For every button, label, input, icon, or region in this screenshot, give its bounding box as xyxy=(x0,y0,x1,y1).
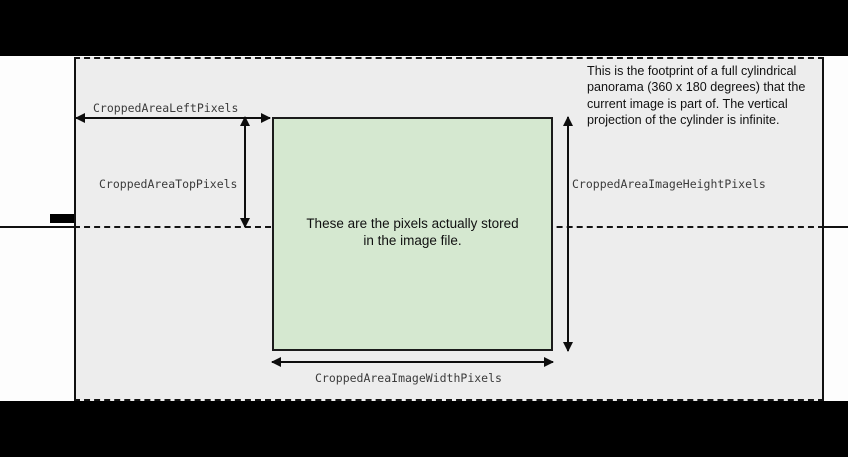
horizon-marker-block xyxy=(50,214,74,223)
panorama-footprint-bottom-edge xyxy=(74,399,824,401)
panorama-footprint-left-edge xyxy=(74,57,76,401)
cropped-area-caption: These are the pixels actually stored in … xyxy=(274,215,551,249)
label-cropped-area-image-height-pixels: CroppedAreaImageHeightPixels xyxy=(572,177,766,191)
label-cropped-area-left-pixels: CroppedAreaLeftPixels xyxy=(93,101,238,115)
horizon-line-left-segment xyxy=(0,226,76,228)
panorama-footprint-top-edge xyxy=(74,57,824,59)
arrow-cropped-area-image-height-pixels xyxy=(567,117,569,351)
horizon-line-right-segment xyxy=(822,226,848,228)
arrow-cropped-area-image-width-pixels xyxy=(272,361,553,363)
diagram-canvas: These are the pixels actually stored in … xyxy=(0,0,848,457)
label-cropped-area-image-width-pixels: CroppedAreaImageWidthPixels xyxy=(315,371,502,385)
panorama-footprint-note: This is the footprint of a full cylindri… xyxy=(587,63,827,129)
label-cropped-area-top-pixels: CroppedAreaTopPixels xyxy=(99,177,237,191)
cropped-area-rect: These are the pixels actually stored in … xyxy=(272,117,553,351)
arrow-cropped-area-top-pixels xyxy=(244,117,246,227)
